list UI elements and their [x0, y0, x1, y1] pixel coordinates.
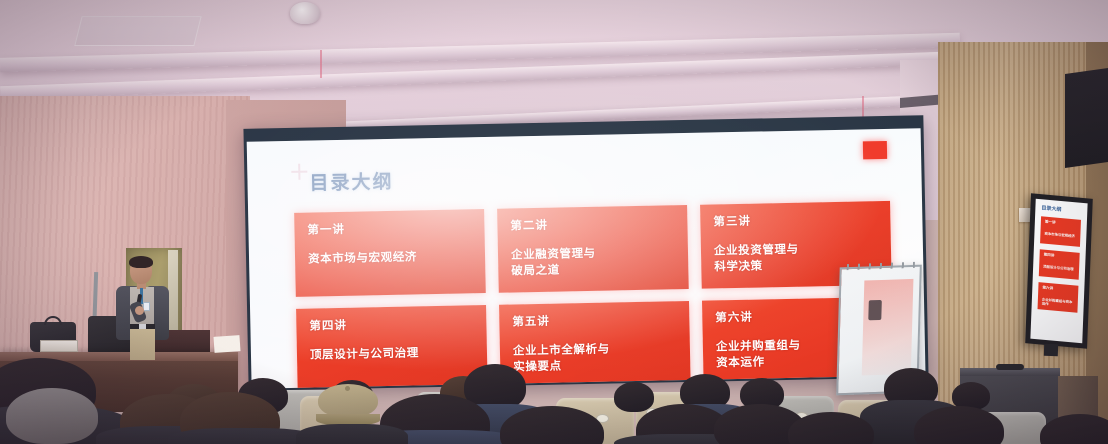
smoke-detector-icon — [290, 2, 320, 24]
audience-head — [614, 382, 654, 412]
cross-mark-icon — [291, 164, 307, 180]
wall-mounted-tv[interactable] — [1065, 68, 1108, 168]
outline-cell-number: 第二讲 — [510, 214, 674, 233]
audience — [0, 360, 1108, 444]
slide-title: 目录大纲 — [309, 167, 394, 196]
monitor-cell-number: 第六讲 — [1042, 286, 1074, 294]
monitor-cell-text: 资本市场与宏观经济 — [1044, 232, 1076, 239]
outline-cell-number: 第五讲 — [512, 310, 676, 329]
outline-cell-number: 第四讲 — [309, 314, 473, 333]
confidence-monitor[interactable]: 目录大纲 第一讲 资本市场与宏观经济 第四讲 顶层设计与公司治理 第六讲 企业并… — [1025, 193, 1093, 349]
presenter-trousers — [130, 328, 155, 360]
monitor-cell-text: 顶层设计与公司治理 — [1043, 265, 1075, 272]
presenter-hand — [135, 306, 144, 315]
outline-cell-number: 第一讲 — [307, 218, 471, 237]
outline-cell-1: 第一讲 资本市场与宏观经济 — [294, 209, 486, 297]
outline-cell-text: 企业融资管理与破局之道 — [511, 244, 676, 278]
audience-shoulders — [296, 424, 408, 444]
red-square-logo-icon — [863, 141, 887, 159]
outline-cell-text: 资本市场与宏观经济 — [308, 248, 472, 267]
audience-head — [1040, 414, 1108, 444]
monitor-slide-title: 目录大纲 — [1041, 204, 1061, 213]
outline-cell-number: 第三讲 — [713, 210, 877, 229]
audience-head — [6, 388, 98, 444]
baseball-cap-button — [345, 386, 350, 391]
presenter-badge — [143, 302, 150, 311]
presenter-belt-buckle — [139, 324, 146, 329]
monitor-outline-cell: 第四讲 顶层设计与公司治理 — [1039, 249, 1080, 280]
monitor-outline-cell: 第六讲 企业并购重组与资本运作 — [1038, 282, 1079, 313]
monitor-stand — [1044, 344, 1058, 356]
presenter-hair — [129, 256, 153, 268]
projection-screen-frame: 目录大纲 第一讲 资本市场与宏观经济 第二讲 企业融资管理与破局之道 第三讲 企… — [243, 115, 928, 391]
confidence-monitor-screen: 目录大纲 第一讲 资本市场与宏观经济 第四讲 顶层设计与公司治理 第六讲 企业并… — [1030, 199, 1087, 344]
paper-sheet — [213, 335, 240, 353]
whiteboard-marker-holder — [868, 300, 882, 320]
ceiling-vent-icon — [74, 16, 201, 46]
presenter — [110, 258, 174, 360]
lecture-hall-scene: 目录大纲 第一讲 资本市场与宏观经济 第二讲 企业融资管理与破局之道 第三讲 企… — [0, 0, 1108, 444]
ceiling-rail-marker — [320, 50, 322, 78]
monitor-cell-number: 第四讲 — [1044, 253, 1076, 261]
desk-nameplate — [40, 340, 78, 352]
monitor-cell-text: 企业并购重组与资本运作 — [1042, 298, 1074, 309]
outline-cell-2: 第二讲 企业融资管理与破局之道 — [497, 205, 689, 293]
monitor-outline-cell: 第一讲 资本市场与宏观经济 — [1040, 216, 1081, 247]
monitor-cell-number: 第一讲 — [1045, 220, 1077, 228]
projection-screen: 目录大纲 第一讲 资本市场与宏观经济 第二讲 企业融资管理与破局之道 第三讲 企… — [247, 128, 926, 388]
